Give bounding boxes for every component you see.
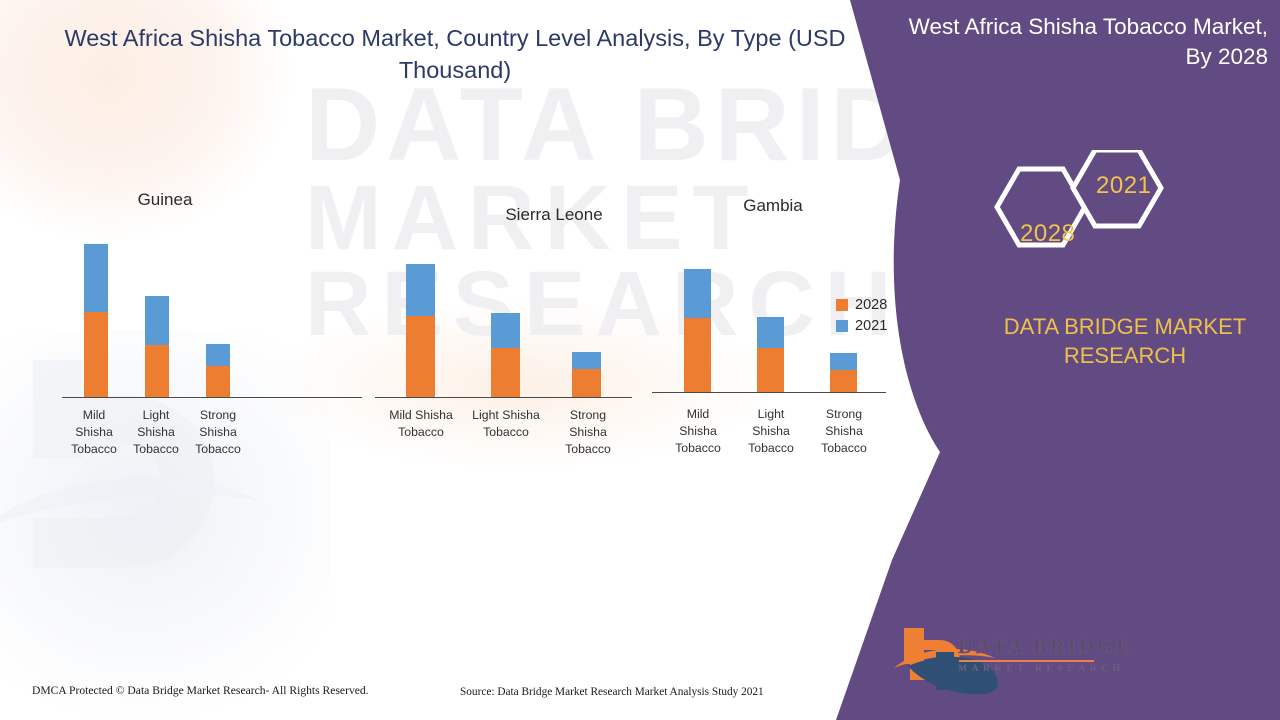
brand-name: DATA BRIDGE MARKET RESEARCH <box>965 312 1280 370</box>
chart-group-title: Gambia <box>700 196 846 216</box>
logo-primary-text: DATA BRIDGE <box>958 636 1133 659</box>
category-label-line: Tobacco <box>812 440 876 457</box>
chart-bar[interactable] <box>684 269 711 392</box>
chart-axis-line <box>652 392 886 393</box>
chart-bar[interactable] <box>830 353 857 392</box>
chart-category-label: LightShishaTobacco <box>739 406 803 457</box>
category-label-line: Strong <box>812 406 876 423</box>
legend-label-2028: 2028 <box>855 297 887 313</box>
category-label-line: Shisha <box>666 423 730 440</box>
hexagon-label-2028: 2028 <box>1020 220 1075 248</box>
bar-segment-2028 <box>684 318 711 392</box>
category-label-line: Tobacco <box>739 440 803 457</box>
category-label-line: Tobacco <box>666 440 730 457</box>
year-hexagons <box>975 150 1185 265</box>
chart-category-label: StrongShishaTobacco <box>812 406 876 457</box>
hexagon-label-2021: 2021 <box>1096 172 1151 200</box>
chart-category-label: MildShishaTobacco <box>666 406 730 457</box>
category-label-line: Shisha <box>739 423 803 440</box>
category-label-line: Mild <box>666 406 730 423</box>
logo-divider <box>959 660 1094 662</box>
infographic-canvas: DATA BRIDGE MARKET RESEARCH West Africa … <box>0 0 1280 720</box>
bar-segment-2021 <box>684 269 711 318</box>
bar-segment-2028 <box>830 370 857 392</box>
category-label-line: Light <box>739 406 803 423</box>
bar-segment-2021 <box>757 317 784 348</box>
legend-swatch-2028 <box>836 299 848 311</box>
category-label-line: Shisha <box>812 423 876 440</box>
logo-wordmark: DATA BRIDGE MARKET RESEARCH <box>958 636 1133 674</box>
chart-legend: 2028 2021 <box>836 294 887 336</box>
legend-item-2021[interactable]: 2021 <box>836 315 887 336</box>
bar-segment-2028 <box>757 348 784 392</box>
panel-title: West Africa Shisha Tobacco Market, By 20… <box>880 12 1268 73</box>
logo-secondary-text: MARKET RESEARCH <box>958 664 1133 674</box>
footer-copyright: DMCA Protected © Data Bridge Market Rese… <box>32 684 369 697</box>
chart-bar[interactable] <box>757 317 784 392</box>
legend-swatch-2021 <box>836 320 848 332</box>
legend-item-2028[interactable]: 2028 <box>836 294 887 315</box>
bar-segment-2021 <box>830 353 857 370</box>
footer-source: Source: Data Bridge Market Research Mark… <box>460 686 764 698</box>
legend-label-2021: 2021 <box>855 318 887 334</box>
